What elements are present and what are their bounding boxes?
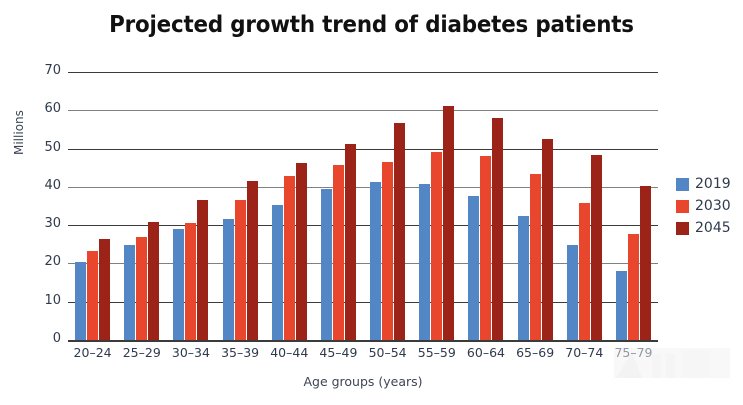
bar[interactable] — [518, 216, 529, 340]
bar[interactable] — [272, 205, 283, 340]
x-axis-title: Age groups (years) — [68, 374, 658, 389]
bar-group — [166, 72, 215, 340]
bar[interactable] — [394, 123, 405, 340]
bar-group — [314, 72, 363, 340]
bar-group — [412, 72, 461, 340]
y-axis-tick-label: 20 — [21, 254, 61, 269]
x-axis-tick-label: 55–59 — [412, 345, 461, 360]
bar-group — [363, 72, 412, 340]
bar[interactable] — [136, 237, 147, 340]
bar[interactable] — [468, 196, 479, 340]
y-axis-tick-label: 70 — [21, 63, 61, 78]
bar[interactable] — [492, 118, 503, 340]
legend-label: 2019 — [695, 176, 731, 192]
legend-item[interactable]: 2030 — [676, 195, 731, 217]
chart-title: Projected growth trend of diabetes patie… — [26, 12, 717, 38]
x-axis-tick-label: 70–74 — [560, 345, 609, 360]
bar[interactable] — [431, 152, 442, 340]
bar-groups — [68, 72, 658, 340]
bar-group — [511, 72, 560, 340]
x-axis-line — [68, 340, 658, 342]
bar-group — [265, 72, 314, 340]
y-axis-tick-label: 0 — [21, 331, 61, 346]
bar[interactable] — [419, 184, 430, 340]
x-axis-tick-label: 45–49 — [314, 345, 363, 360]
bar[interactable] — [345, 144, 356, 340]
bar[interactable] — [567, 245, 578, 340]
bar[interactable] — [480, 156, 491, 340]
bar-group — [560, 72, 609, 340]
bar-group — [68, 72, 117, 340]
bar[interactable] — [296, 163, 307, 340]
bar[interactable] — [235, 200, 246, 340]
y-axis-tick-label: 10 — [21, 293, 61, 308]
x-axis-tick-label: 20–24 — [68, 345, 117, 360]
y-axis-tick-label: 40 — [21, 178, 61, 193]
bar-group — [461, 72, 510, 340]
bar[interactable] — [124, 245, 135, 340]
y-axis-tick-label: 30 — [21, 216, 61, 231]
bar[interactable] — [640, 186, 651, 340]
legend-color-swatch — [676, 222, 689, 235]
bar[interactable] — [616, 271, 627, 340]
y-axis-tick-label: 50 — [21, 140, 61, 155]
bar[interactable] — [579, 203, 590, 340]
x-axis-tick-labels: 20–2425–2930–3435–3940–4445–4950–5455–59… — [68, 345, 658, 360]
bar[interactable] — [382, 162, 393, 340]
bar[interactable] — [443, 106, 454, 340]
x-axis-tick-label: 35–39 — [216, 345, 265, 360]
bar[interactable] — [333, 165, 344, 340]
bar[interactable] — [173, 229, 184, 340]
x-axis-tick-label: 50–54 — [363, 345, 412, 360]
legend-label: 2030 — [695, 198, 731, 214]
bar[interactable] — [75, 262, 86, 340]
bar[interactable] — [148, 222, 159, 340]
x-axis-tick-label: 40–44 — [265, 345, 314, 360]
bar[interactable] — [530, 174, 541, 340]
x-axis-tick-label: 75–79 — [609, 345, 658, 360]
legend-color-swatch — [676, 200, 689, 213]
bar[interactable] — [321, 189, 332, 340]
legend-label: 2045 — [695, 220, 731, 236]
x-axis-tick-label: 65–69 — [511, 345, 560, 360]
bar[interactable] — [591, 155, 602, 340]
bar[interactable] — [247, 181, 258, 340]
bar[interactable] — [99, 239, 110, 340]
bar[interactable] — [223, 219, 234, 340]
bar[interactable] — [542, 139, 553, 340]
x-axis-tick-label: 60–64 — [461, 345, 510, 360]
x-axis-tick-label: 25–29 — [117, 345, 166, 360]
bar-group — [117, 72, 166, 340]
y-axis-tick-label: 60 — [21, 101, 61, 116]
legend-item[interactable]: 2045 — [676, 217, 731, 239]
bar[interactable] — [284, 176, 295, 340]
bar-group — [216, 72, 265, 340]
bar[interactable] — [185, 223, 196, 340]
bar[interactable] — [628, 234, 639, 340]
legend-color-swatch — [676, 178, 689, 191]
x-axis-tick-label: 30–34 — [166, 345, 215, 360]
bar[interactable] — [87, 251, 98, 340]
bar[interactable] — [370, 182, 381, 340]
legend-item[interactable]: 2019 — [676, 173, 731, 195]
legend: 201920302045 — [676, 173, 731, 239]
bar-group — [609, 72, 658, 340]
bar[interactable] — [197, 200, 208, 340]
